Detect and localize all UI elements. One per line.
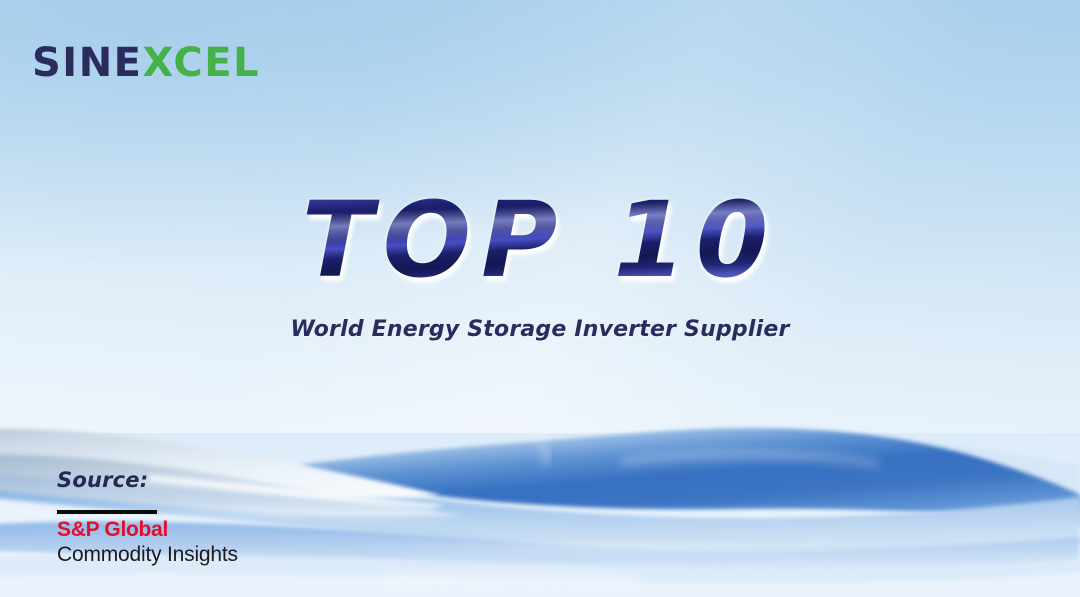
sp-global-divider [57, 510, 157, 514]
source-label: Source: [57, 468, 387, 492]
hero-section: TOP 10 World Energy Storage Inverter Sup… [0, 186, 1080, 342]
page-subtitle: World Energy Storage Inverter Supplier [0, 317, 1080, 342]
source-attribution: Source: S&P Global Commodity Insights [57, 468, 387, 568]
source-division: Commodity Insights [57, 542, 387, 568]
poster-canvas: SINEXCEL TOP 10 World Energy Storage Inv… [0, 0, 1080, 597]
source-organization: S&P Global [57, 518, 387, 543]
sinexcel-logo: SINEXCEL [32, 43, 260, 83]
logo-text-sine: SINE [32, 40, 143, 86]
page-title: TOP 10 [302, 186, 779, 295]
logo-text-xcel: XCEL [143, 40, 261, 86]
